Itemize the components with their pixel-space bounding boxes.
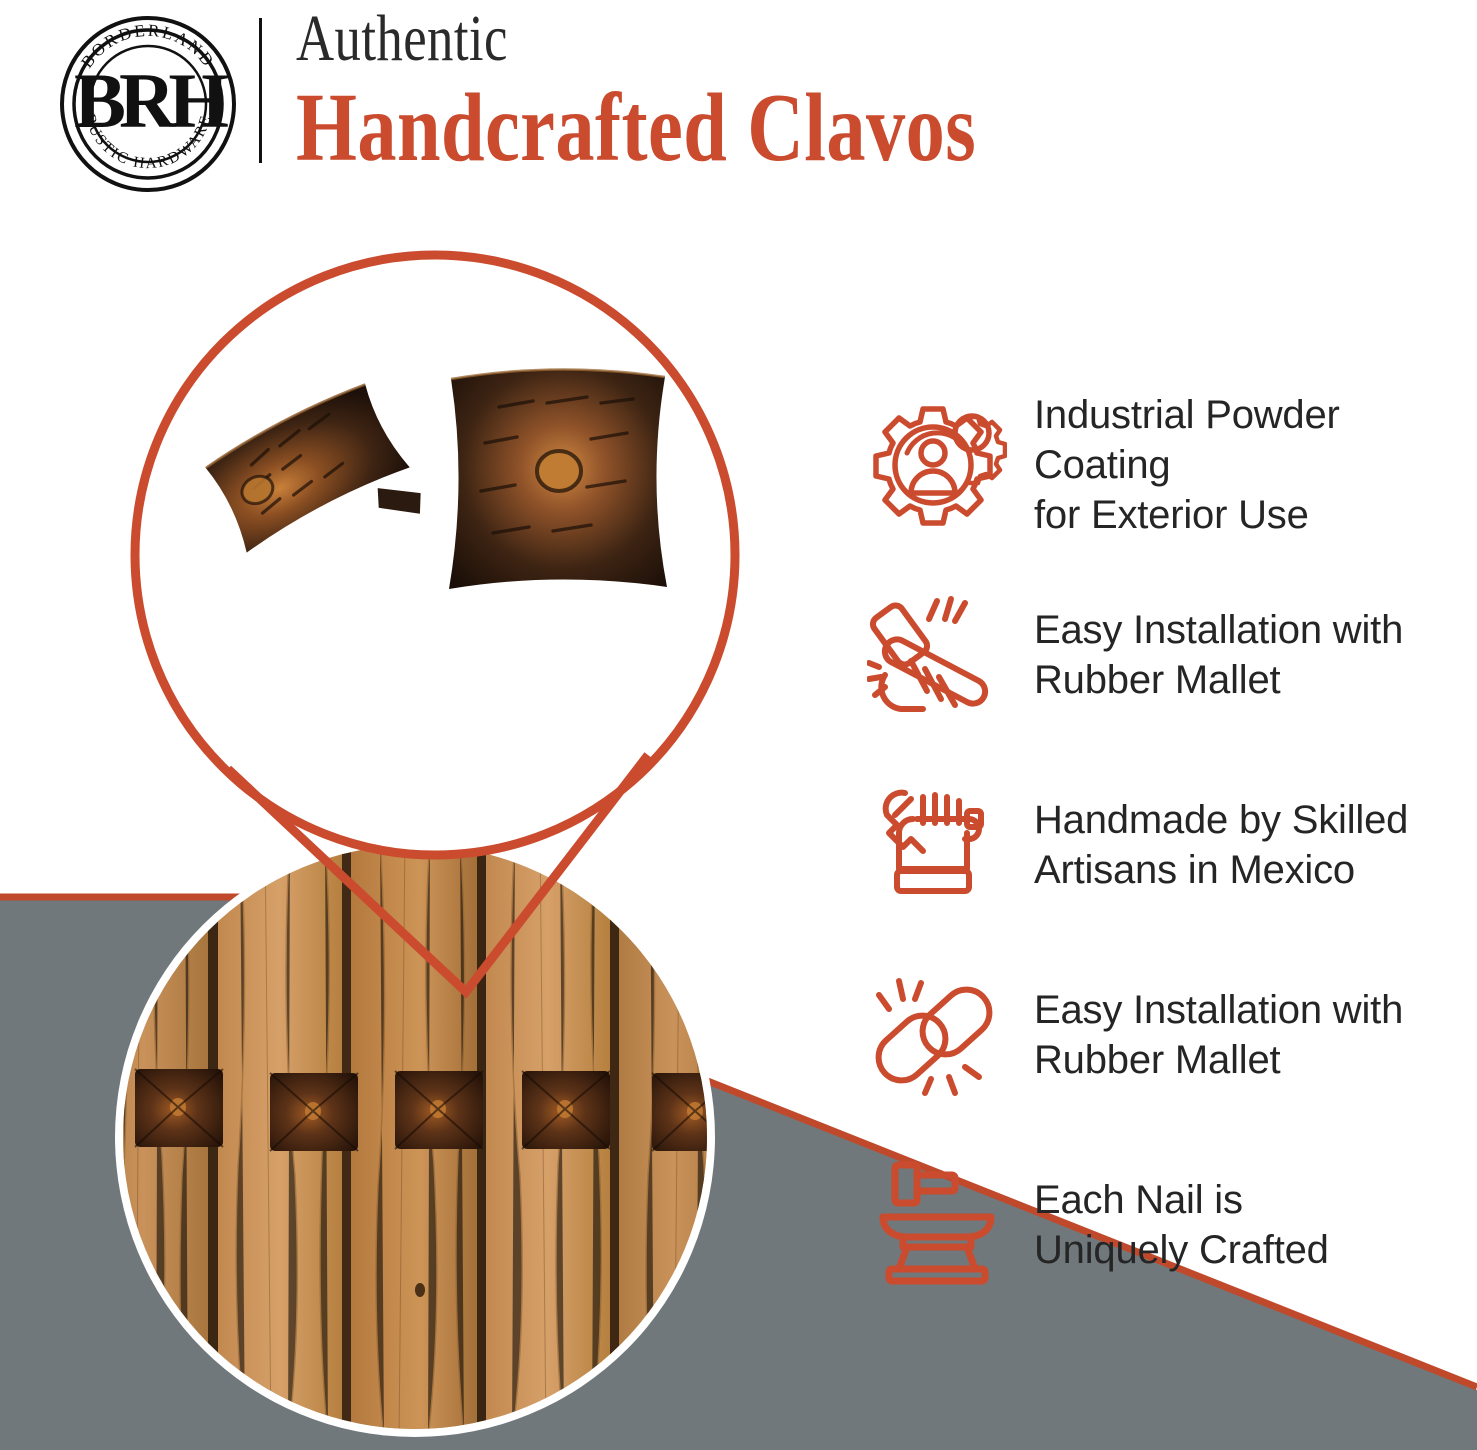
- header-divider: [259, 18, 262, 163]
- page-title-eyebrow: Authentic: [296, 4, 1192, 74]
- feature-line-1: Handmade by Skilled: [1034, 795, 1408, 845]
- header: BORDERLAND RUSTIC HARDWARE BRH Authentic…: [0, 0, 1477, 200]
- hand-mallet-icon: [862, 580, 1012, 730]
- feature-label: Easy Installation with Rubber Mallet: [1012, 605, 1403, 705]
- anvil-hammer-icon: [862, 1150, 1012, 1300]
- clavos-front-view: [449, 369, 667, 589]
- feature-line-2: Artisans in Mexico: [1034, 845, 1408, 895]
- feature-list: Industrial Powder Coating for Exterior U…: [862, 370, 1472, 1320]
- feature-line-2: Rubber Mallet: [1034, 1035, 1403, 1085]
- feature-label: Easy Installation with Rubber Mallet: [1012, 985, 1403, 1085]
- feature-line-1: Industrial Powder Coating: [1034, 390, 1472, 490]
- borderland-rustic-hardware-logo: BORDERLAND RUSTIC HARDWARE BRH: [58, 14, 238, 194]
- clavos-head-angled: [201, 380, 411, 553]
- feature-item: Handmade by Skilled Artisans in Mexico: [862, 750, 1472, 940]
- feature-line-1: Easy Installation with: [1034, 985, 1403, 1035]
- fist-wrench-icon: [862, 770, 1012, 920]
- feature-line-1: Each Nail is: [1034, 1175, 1329, 1225]
- page-title: Handcrafted Clavos: [296, 78, 1192, 178]
- feature-item: Industrial Powder Coating for Exterior U…: [862, 370, 1472, 560]
- feature-line-2: Rubber Mallet: [1034, 655, 1403, 705]
- logo-monogram-text: BRH: [74, 57, 228, 144]
- feature-line-1: Easy Installation with: [1034, 605, 1403, 655]
- clavos-angled-view: [201, 380, 431, 592]
- clavos-product-photo: [175, 355, 700, 755]
- product-visual-group: [0, 210, 830, 1450]
- feature-item: Each Nail is Uniquely Crafted: [862, 1130, 1472, 1320]
- feature-label: Industrial Powder Coating for Exterior U…: [1012, 390, 1472, 540]
- feature-label: Each Nail is Uniquely Crafted: [1012, 1175, 1329, 1275]
- infographic-canvas: BORDERLAND RUSTIC HARDWARE BRH Authentic…: [0, 0, 1477, 1450]
- feature-label: Handmade by Skilled Artisans in Mexico: [1012, 795, 1408, 895]
- header-titles: Authentic Handcrafted Clavos: [296, 4, 1416, 178]
- gear-person-icon: [862, 390, 1012, 540]
- chain-links-icon: [862, 960, 1012, 1110]
- feature-line-2: Uniquely Crafted: [1034, 1225, 1329, 1275]
- feature-item: Easy Installation with Rubber Mallet: [862, 940, 1472, 1130]
- clavos-shank: [371, 472, 429, 529]
- feature-line-2: for Exterior Use: [1034, 490, 1472, 540]
- feature-item: Easy Installation with Rubber Mallet: [862, 560, 1472, 750]
